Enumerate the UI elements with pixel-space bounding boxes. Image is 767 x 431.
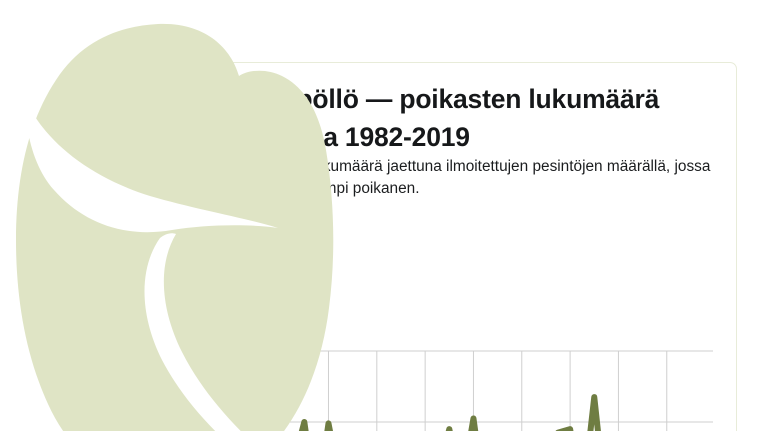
series-line-poikaset bbox=[256, 397, 703, 431]
y-tick-label-3: 3 bbox=[215, 414, 239, 431]
page-subtitle: Poikasten lukumäärä jaettuna ilmoitettuj… bbox=[239, 156, 717, 199]
y-axis-title: Määrä bbox=[265, 251, 300, 265]
page-root: Viirupöllö — poikasten lukumäärä vuosina… bbox=[0, 0, 767, 431]
chart-card-inner: Viirupöllö — poikasten lukumäärä vuosina… bbox=[193, 63, 736, 431]
chart-card: Viirupöllö — poikasten lukumäärä vuosina… bbox=[192, 62, 737, 431]
y-tick-label-4: 4 bbox=[215, 343, 239, 360]
line-chart-svg bbox=[193, 251, 738, 431]
chart-plot-area: Määrä 4 3 bbox=[193, 251, 738, 431]
chart-series-group bbox=[256, 397, 703, 431]
page-title: Viirupöllö — poikasten lukumäärä vuosina… bbox=[239, 80, 719, 156]
